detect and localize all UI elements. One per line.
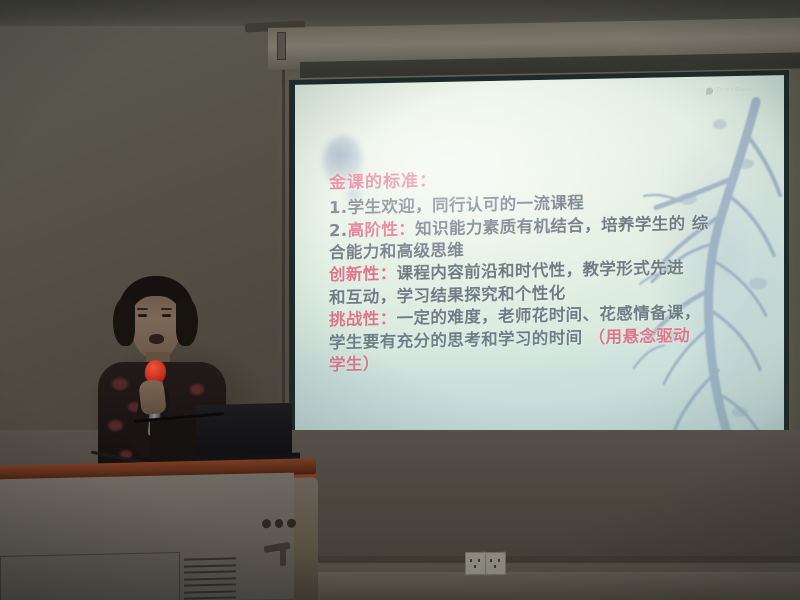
wall-trim-line — [300, 556, 800, 563]
wall-outlet-right — [485, 552, 506, 575]
floor-ledge — [300, 572, 800, 600]
slide-line-2-keyword: 高阶性 — [348, 219, 399, 239]
vent-slot — [184, 570, 236, 573]
slide-text-block: 金课的标准： 1.学生欢迎，同行认可的一流课程 2.高阶性：知识能力素质有机结合… — [329, 163, 781, 377]
presenter-eye-right — [162, 314, 171, 317]
vent-slot — [184, 590, 236, 593]
vent-slot — [184, 577, 236, 580]
lecture-hall-photo: 金课的标准： 1.学生欢迎，同行认可的一流课程 2.高阶性：知识能力素质有机结合… — [0, 0, 800, 600]
projection-screen: 金课的标准： 1.学生欢迎，同行认可的一流课程 2.高阶性：知识能力素质有机结合… — [289, 70, 789, 452]
brand-mark-icon — [706, 87, 713, 94]
knob[interactable] — [287, 518, 296, 527]
presenter-hair-side-left — [113, 298, 135, 346]
presenter-face — [130, 296, 182, 360]
soffit-bracket — [277, 32, 286, 60]
presenter-eyebrow-left — [137, 308, 148, 310]
screen-surface: 金课的标准： 1.学生欢迎，同行认可的一流课程 2.高阶性：知识能力素质有机结合… — [295, 75, 784, 446]
outlet-slot — [494, 565, 496, 568]
outlet-slot — [474, 565, 476, 568]
brand-logo-text: ThreeStars — [716, 87, 752, 94]
knob[interactable] — [275, 518, 284, 527]
slide-line-2-colon: ： — [398, 219, 415, 238]
projector-brand-logo: ThreeStars — [706, 83, 784, 96]
presenter-mouth — [149, 334, 164, 344]
wall-outlet-left — [465, 552, 486, 575]
outlet-slot — [498, 559, 500, 562]
slide-line-6-text: 一定的难度，老师花时间、花感情备课， — [397, 303, 701, 328]
slide-line-1-text: 学生欢迎，同行认可的一流课程 — [348, 193, 585, 217]
presenter-hand — [138, 379, 166, 415]
outlet-slot — [490, 559, 492, 562]
slide-line-6-keyword: 挑战性 — [329, 309, 380, 329]
presenter-eye-left — [138, 314, 147, 317]
presenter-hair-side-right — [176, 298, 198, 346]
vent-slot — [184, 583, 236, 586]
slide-line-1-number: 1. — [329, 198, 348, 217]
slide-line-4-colon: ： — [380, 264, 397, 283]
slide-line-7-highlight: （用悬念驱动 — [589, 326, 690, 347]
knob[interactable] — [262, 519, 271, 528]
lectern-vent-grille — [184, 557, 236, 600]
lectern-latch[interactable] — [280, 548, 286, 566]
vent-slot — [184, 596, 236, 599]
slide-line-7-text: 学生要有充分的思考和学习的时间 — [329, 328, 589, 352]
slide-line-6-colon: ： — [380, 309, 397, 328]
slide-line-2-number: 2. — [329, 220, 348, 239]
vent-slot — [184, 564, 236, 567]
outlet-slot — [478, 559, 480, 562]
vent-slot — [184, 557, 236, 560]
presenter-eyebrow-right — [161, 308, 172, 310]
lectern-inset-panel — [0, 552, 180, 600]
slide-line-2-text: 知识能力素质有机结合，培养学生的 综 — [415, 213, 708, 238]
lectern-control-knobs[interactable] — [262, 516, 296, 531]
slide-line-4-text: 课程内容前沿和时代性，教学形式先进 — [397, 258, 684, 283]
outlet-slot — [470, 559, 472, 562]
lectern — [0, 462, 324, 600]
slide-line-4-keyword: 创新性 — [329, 265, 380, 285]
